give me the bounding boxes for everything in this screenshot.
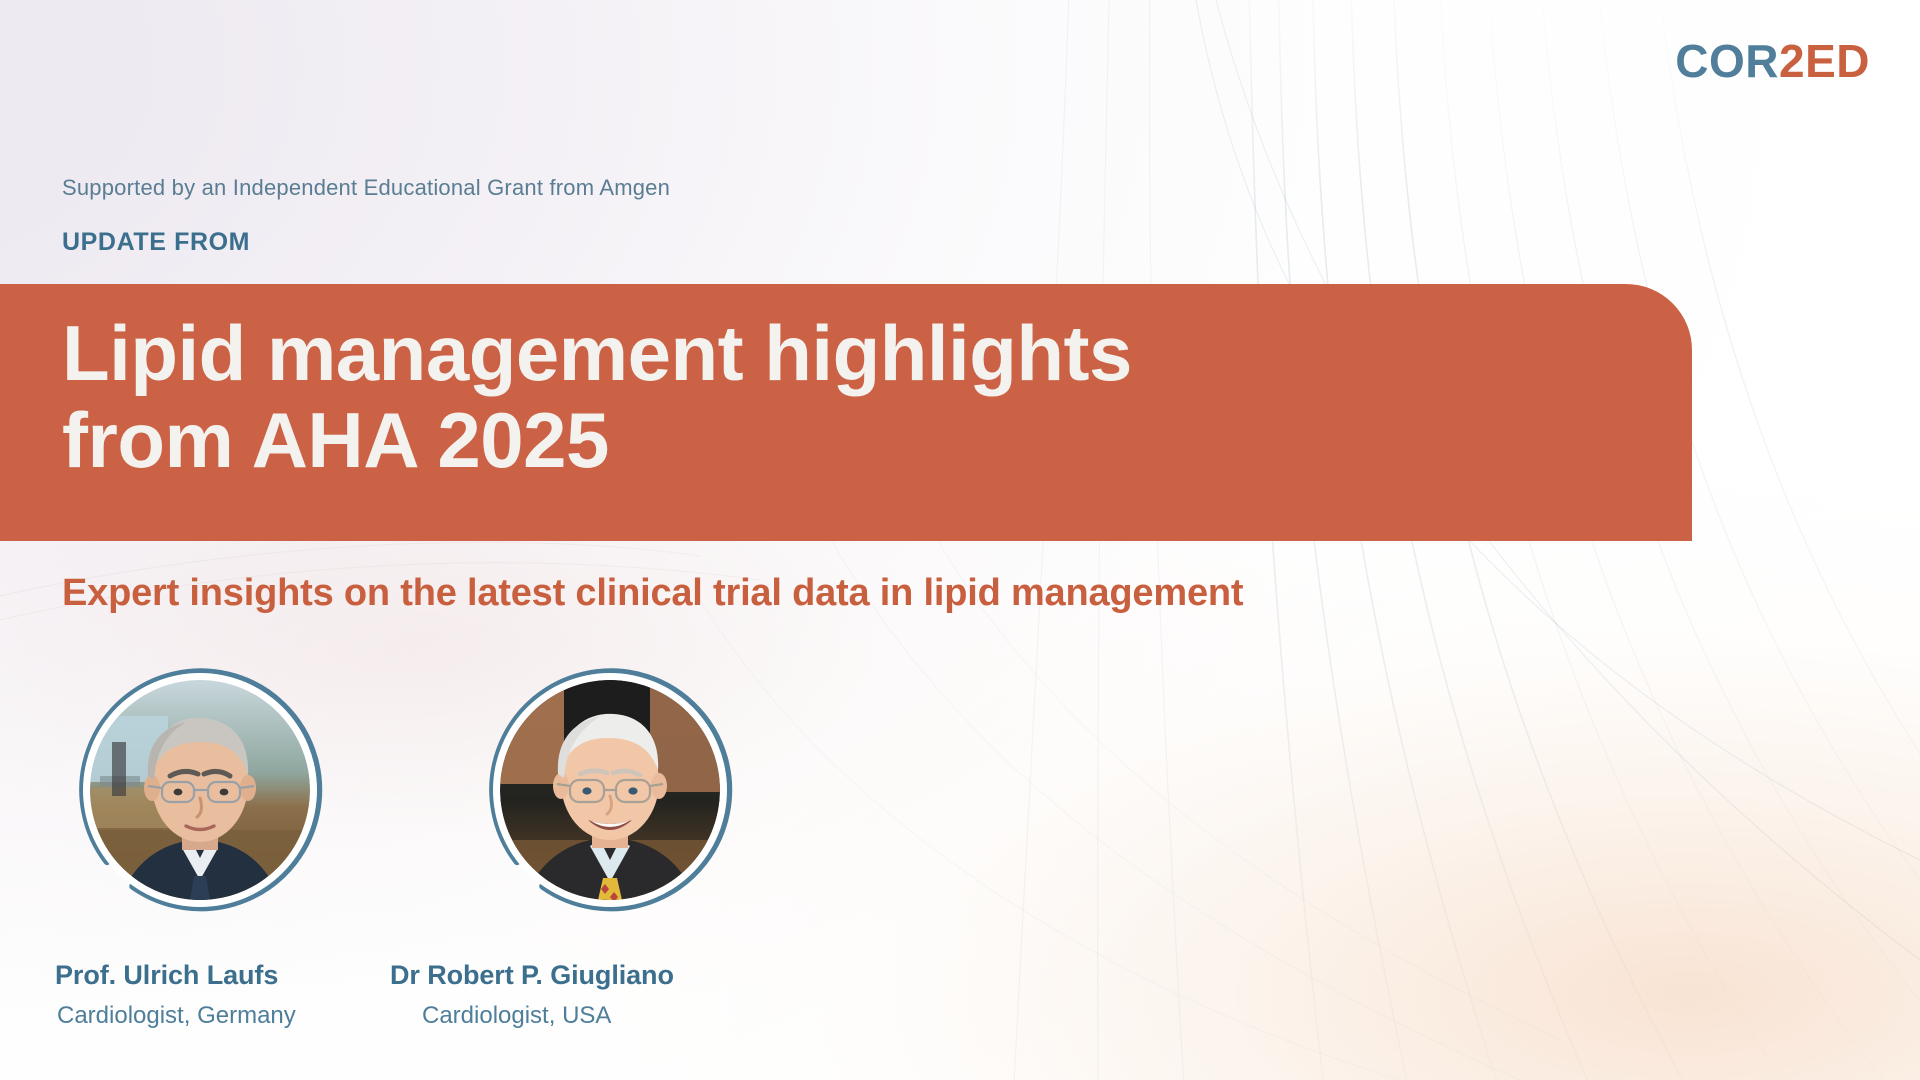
page-subtitle: Expert insights on the latest clinical t… bbox=[62, 572, 1243, 615]
avatar bbox=[470, 650, 750, 930]
speaker-role: Cardiologist, Germany bbox=[57, 1002, 296, 1030]
speaker-name: Dr Robert P. Giugliano bbox=[390, 960, 674, 991]
logo-text-two: 2 bbox=[1779, 35, 1805, 87]
avatar bbox=[60, 650, 340, 930]
speaker-role: Cardiologist, USA bbox=[422, 1002, 611, 1030]
logo-text-ed: ED bbox=[1805, 35, 1870, 87]
speaker-card: Prof. Ulrich Laufs Cardiologist, Germany bbox=[60, 650, 340, 930]
speaker-name: Prof. Ulrich Laufs bbox=[55, 960, 278, 991]
supported-by-text: Supported by an Independent Educational … bbox=[62, 175, 670, 201]
speaker-photo bbox=[90, 680, 310, 900]
speaker-list: Prof. Ulrich Laufs Cardiologist, Germany bbox=[0, 650, 900, 1060]
page-title: Lipid management highlights from AHA 202… bbox=[62, 310, 1132, 485]
speaker-photo bbox=[500, 680, 720, 900]
title-banner: Lipid management highlights from AHA 202… bbox=[0, 284, 1692, 541]
logo-text-cor: COR bbox=[1675, 35, 1779, 87]
cor2ed-logo: COR2ED bbox=[1675, 38, 1870, 84]
slide-canvas: COR2ED Supported by an Independent Educa… bbox=[0, 0, 1920, 1080]
speaker-card: Dr Robert P. Giugliano Cardiologist, USA bbox=[470, 650, 750, 930]
update-from-eyebrow: UPDATE FROM bbox=[62, 228, 250, 257]
